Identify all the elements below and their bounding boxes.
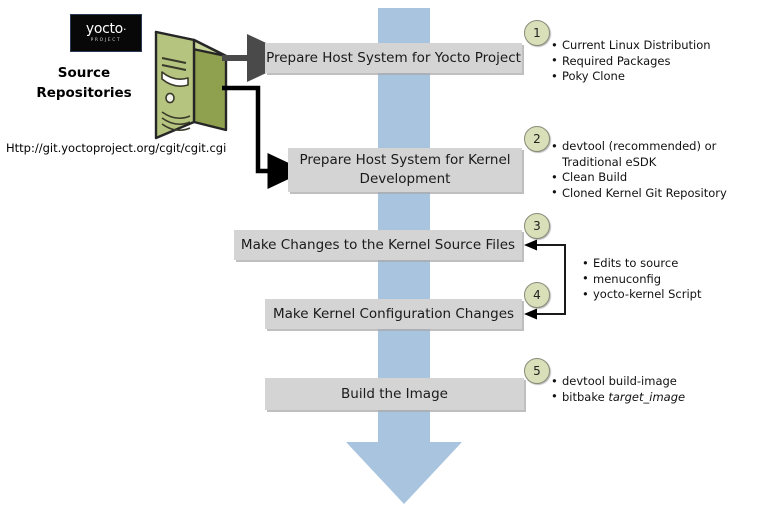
- process-box-2-label-line2: Development: [360, 171, 451, 187]
- process-box-build-the-image[interactable]: Build the Image: [265, 378, 524, 410]
- step-number-3: 3: [524, 213, 550, 239]
- step-2-bullet-list: devtool (recommended) or Traditional eSD…: [551, 139, 751, 201]
- source-repositories-url: Http://git.yoctoproject.org/cgit/cgit.cg…: [6, 141, 226, 155]
- process-box-make-kernel-source-changes[interactable]: Make Changes to the Kernel Source Files: [234, 230, 522, 260]
- step-number-1: 1: [524, 20, 550, 46]
- list-item: yocto-kernel Script: [582, 287, 742, 303]
- yocto-kernel-development-flow-diagram: yocto· PROJECT Source Repositories Http:…: [0, 0, 769, 517]
- list-item: Required Packages: [551, 54, 756, 70]
- process-box-5-label: Build the Image: [341, 385, 448, 404]
- step-number-2: 2: [524, 126, 550, 152]
- list-item: Edits to source: [582, 256, 742, 272]
- list-item: Current Linux Distribution: [551, 38, 756, 54]
- process-box-2-label: Prepare Host System for Kernel Developme…: [299, 151, 510, 189]
- process-box-make-kernel-config-changes[interactable]: Make Kernel Configuration Changes: [265, 299, 522, 329]
- yocto-logo-subtitle: PROJECT: [91, 39, 122, 43]
- list-item: bitbake target_image: [551, 390, 751, 406]
- step-5-bullet-list: devtool build-image bitbake target_image: [551, 374, 751, 405]
- step-number-4: 4: [524, 282, 550, 308]
- process-box-4-label: Make Kernel Configuration Changes: [273, 305, 514, 324]
- yocto-logo-wordmark: yocto·: [86, 22, 126, 36]
- list-item: Clean Build: [551, 170, 751, 186]
- list-item: Poky Clone: [551, 69, 756, 85]
- process-box-prepare-host-yocto[interactable]: Prepare Host System for Yocto Project: [265, 43, 522, 73]
- list-item: devtool build-image: [551, 374, 751, 390]
- process-box-1-label: Prepare Host System for Yocto Project: [266, 49, 521, 68]
- server-tower-icon: [128, 28, 232, 142]
- connector-bracket-step3-step4: [524, 240, 565, 320]
- list-item: Cloned Kernel Git Repository: [551, 186, 751, 202]
- bitbake-target-image-value: target_image: [608, 390, 685, 404]
- step-3-4-bullet-list: Edits to source menuconfig yocto-kernel …: [582, 256, 742, 303]
- list-item: devtool (recommended) or Traditional eSD…: [551, 139, 751, 170]
- step-number-5: 5: [524, 358, 550, 384]
- step-1-bullet-list: Current Linux Distribution Required Pack…: [551, 38, 756, 85]
- process-box-prepare-host-kernel[interactable]: Prepare Host System for Kernel Developme…: [288, 148, 522, 192]
- bitbake-command-prefix: bitbake: [562, 390, 608, 404]
- list-item: menuconfig: [582, 272, 742, 288]
- process-box-3-label: Make Changes to the Kernel Source Files: [241, 236, 515, 255]
- process-box-2-label-line1: Prepare Host System for Kernel: [299, 152, 510, 168]
